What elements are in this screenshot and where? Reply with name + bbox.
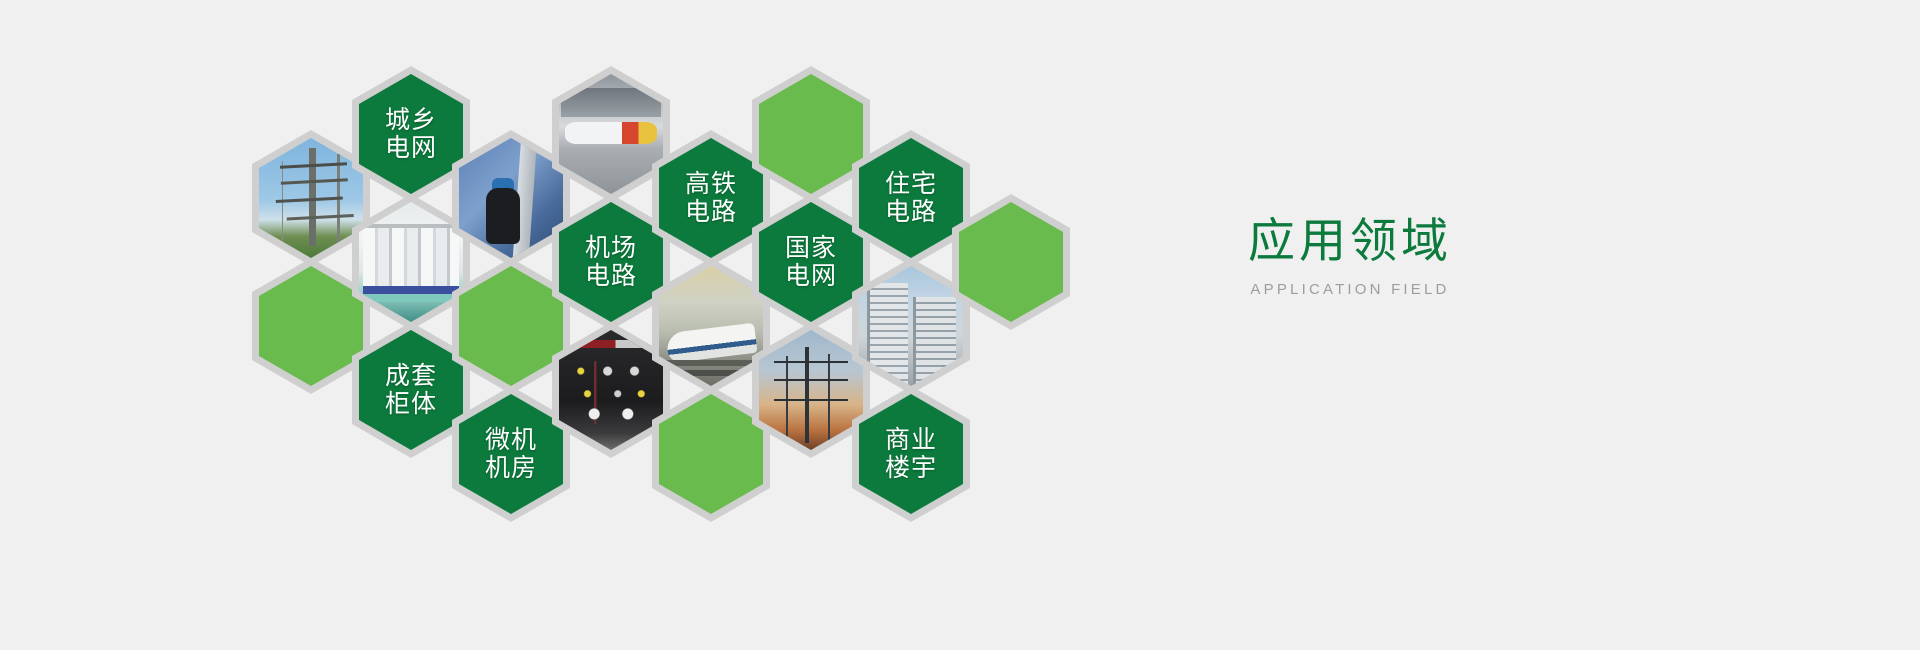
- page-subtitle: APPLICATION FIELD: [1140, 281, 1560, 298]
- transmission-tower-photo: [759, 330, 863, 450]
- hex-inner: [559, 330, 663, 450]
- hex-label: 微机 机房: [485, 426, 537, 482]
- hex-label: 住宅 电路: [885, 170, 937, 226]
- hex-label: 国家 电网: [785, 234, 837, 290]
- hex-inner: 微机 机房: [459, 394, 563, 514]
- lineman-pole-photo: [459, 138, 563, 258]
- hex-inner: [859, 266, 963, 386]
- hex-inner: [459, 138, 563, 258]
- hex-inner: [559, 74, 663, 194]
- hex-inner: [759, 330, 863, 450]
- hex-inner: [459, 266, 563, 386]
- application-field-banner: 城乡 电网 成套 柜体 微: [0, 0, 1920, 650]
- title-block: 应用领域 APPLICATION FIELD: [1140, 215, 1560, 298]
- hex-inner: 住宅 电路: [859, 138, 963, 258]
- hex-inner: 成套 柜体: [359, 330, 463, 450]
- hexagon-honeycomb: 城乡 电网 成套 柜体 微: [0, 0, 1150, 650]
- hex-inner: [659, 266, 763, 386]
- hex-inner: 国家 电网: [759, 202, 863, 322]
- hex-label: 商业 楼宇: [885, 426, 937, 482]
- hex-label: 机场 电路: [585, 234, 637, 290]
- hex-inner: 机场 电路: [559, 202, 663, 322]
- airport-apron-photo: [559, 74, 663, 194]
- hex-inner: 商业 楼宇: [859, 394, 963, 514]
- hex-inner: 城乡 电网: [359, 74, 463, 194]
- page-title: 应用领域: [1140, 215, 1560, 267]
- hex-label: 成套 柜体: [385, 362, 437, 418]
- hex-inner: [259, 138, 363, 258]
- utility-pole-photo: [259, 138, 363, 258]
- relay-panel-photo: [559, 330, 663, 450]
- switchgear-cabinet-photo: [359, 202, 463, 322]
- hex-inner: [959, 202, 1063, 322]
- hex-inner: [759, 74, 863, 194]
- hex-label: 城乡 电网: [385, 106, 437, 162]
- hex-inner: [359, 202, 463, 322]
- residential-building-photo: [859, 266, 963, 386]
- hex-inner: [259, 266, 363, 386]
- hex-label: 高铁 电路: [685, 170, 737, 226]
- high-speed-train-photo: [659, 266, 763, 386]
- hex-inner: 高铁 电路: [659, 138, 763, 258]
- hex-inner: [659, 394, 763, 514]
